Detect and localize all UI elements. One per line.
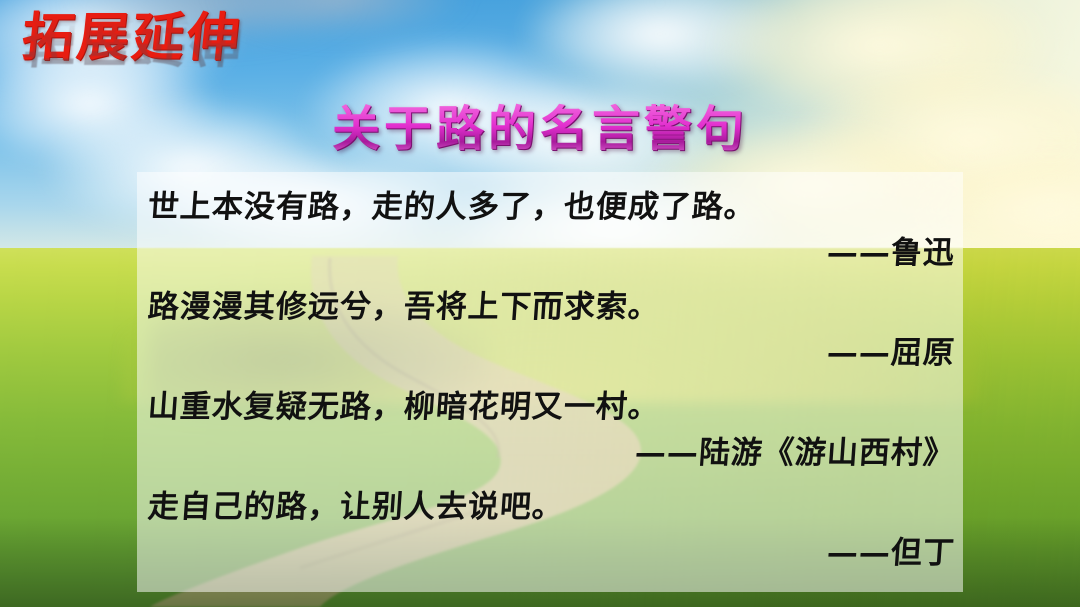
quote-item: 山重水复疑无路，柳暗花明又一村。	[137, 388, 963, 426]
quote-text: 路漫漫其修远兮，吾将上下而求索。	[136, 288, 965, 326]
quote-item-attr: ——鲁迅	[137, 234, 963, 272]
quote-item: 走自己的路，让别人去说吧。	[137, 488, 963, 526]
quote-attribution: ——但丁	[136, 534, 965, 572]
quote-text: 山重水复疑无路，柳暗花明又一村。	[136, 388, 965, 426]
quote-text: 世上本没有路，走的人多了，也便成了路。	[136, 188, 965, 226]
quote-list: 世上本没有路，走的人多了，也便成了路。 ——鲁迅 路漫漫其修远兮，吾将上下而求索…	[137, 172, 963, 592]
quote-item-attr: ——屈原	[137, 334, 963, 372]
slide-canvas: 拓展延伸 拓展延伸 关于路的名言警句 世上本没有路，走的人多了，也便成了路。 —…	[0, 0, 1080, 607]
page-title: 关于路的名言警句	[0, 100, 1080, 158]
corner-heading-reflection: 拓展延伸	[22, 10, 328, 70]
quote-attribution: ——陆游《游山西村》	[136, 434, 965, 472]
quote-attribution: ——屈原	[136, 334, 965, 372]
quote-attribution: ——鲁迅	[136, 234, 965, 272]
quote-item-attr: ——陆游《游山西村》	[137, 434, 963, 472]
quote-item: 路漫漫其修远兮，吾将上下而求索。	[137, 288, 963, 326]
quote-item: 世上本没有路，走的人多了，也便成了路。	[137, 188, 963, 226]
quote-item-attr: ——但丁	[137, 534, 963, 572]
quote-text: 走自己的路，让别人去说吧。	[136, 488, 965, 526]
